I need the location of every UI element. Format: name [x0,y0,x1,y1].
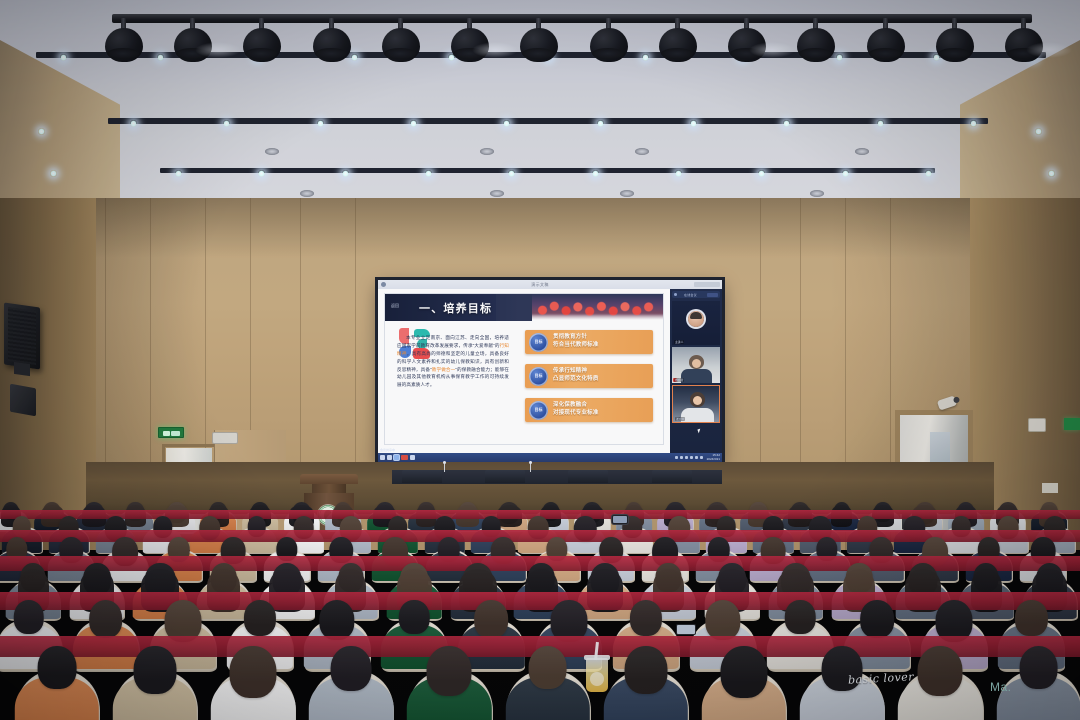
ceiling-light-icon [842,170,849,177]
lamp-reflection [472,42,518,58]
bubble-tea-cup [586,658,608,692]
stage-lamp-icon [935,18,975,62]
lecture-hall-scene: 演示文稿 一、培养目标 返回 本专业立足南京、面向江苏、走向全国，培养适应国家学… [0,0,1080,720]
objective-line-2: 符合当代教师标准 [553,342,599,350]
ceiling-light-icon [503,120,510,127]
audience-member [703,640,785,720]
audience-head [37,646,76,690]
participant-tile[interactable]: 主讲人 [672,301,720,345]
audience-head [860,600,894,638]
tray-shield-icon[interactable] [695,456,698,459]
recessed-downlight-icon [635,148,649,155]
stage-lamp-icon [658,18,698,62]
ceiling-light-icon [783,120,790,127]
audience-member [114,640,196,720]
exit-sign-icon [158,427,184,438]
ceiling-light-icon [175,170,182,177]
smartphone-icon [676,624,696,635]
ceiling-light-icon [597,120,604,127]
recessed-downlight-icon [810,190,824,197]
stage-chair [485,470,525,483]
slide-title: 一、培养目标 [419,300,492,316]
stage-lamp-icon [796,18,836,62]
audience-head [319,600,354,640]
ceiling-light-icon [130,120,137,127]
stage-lamp-icon [866,18,906,62]
taskbar-explorer-icon[interactable] [387,455,392,460]
tray-battery-icon[interactable] [685,456,688,459]
taskbar-pinned-apps[interactable] [380,455,415,460]
participant-face [693,396,702,405]
avatar [688,311,704,327]
audience-head [918,646,963,696]
participant-tile-active[interactable]: 发言中 [672,385,720,423]
tray-network-icon[interactable] [675,456,678,459]
wall-switch-plate [1042,483,1058,493]
audience-head [427,646,472,696]
taskbar-browser-icon[interactable] [394,455,399,460]
speaker-mount [14,362,30,376]
microphone-icon [444,463,445,472]
podium-top [300,474,358,484]
wall-wash-light-icon [1035,128,1042,135]
taskbar-start-icon[interactable] [380,455,385,460]
objective-line-2: 对接现代专业标准 [553,410,599,418]
objective-box: 目标深化保教融合对接现代专业标准 [525,398,653,422]
stage-chair [568,470,608,483]
participant-tile[interactable]: 参会者 [672,347,720,383]
participant-name: 发言中 [675,417,685,421]
meeting-sidebar-header[interactable]: 在线会议 [672,291,720,298]
tray-cloud-icon[interactable] [700,456,703,459]
audience-head [133,646,176,694]
windows-taskbar[interactable]: 会议共享中 15:42 2024/3/21 [378,453,722,462]
ceiling-light-icon [223,120,230,127]
stage-lamp-icon [381,18,421,62]
taskbar-app-title: 会议共享中 [380,448,395,452]
wall-wash-light-icon [1048,170,1055,177]
meeting-header-label: 在线会议 [684,293,697,297]
wall-wash-light-icon [50,170,57,177]
audience-member [212,640,294,720]
participant-body [681,408,714,423]
ceiling-light-icon [60,54,67,61]
wall-control-box [1028,418,1046,432]
stage-lamp-icon [519,18,559,62]
taskbar-clock[interactable]: 15:42 2024/3/21 [707,454,720,461]
audience-head [331,646,372,692]
participant-name: 参会者 [674,378,684,382]
recessed-downlight-icon [480,148,494,155]
objective-line-1: 贯彻教育方针 [553,334,599,342]
audience-head [399,600,430,634]
ceiling-light-icon [970,120,977,127]
taskbar-powerpoint-icon[interactable] [401,455,408,460]
lamp-reflection [1026,42,1072,58]
ceiling-light-icon [758,170,765,177]
ceiling-light-icon [410,120,417,127]
recessed-downlight-icon [490,190,504,197]
objective-badge-icon: 目标 [529,367,548,386]
ceiling-light-icon [425,170,432,177]
audience-head [13,600,44,634]
objective-line-2: 凸显师范文化特质 [553,376,599,384]
projection-screen[interactable]: 演示文稿 一、培养目标 返回 本专业立足南京、面向江苏、走向全国，培养适应国家学… [378,280,722,462]
participant-body [681,369,712,383]
objective-box: 目标贯彻教育方针符合当代教师标准 [525,330,653,354]
meeting-status-dot [674,293,677,296]
audience-member [506,640,588,720]
ceiling-light-icon [675,170,682,177]
ceiling-light-icon [592,170,599,177]
audience-head [705,600,740,640]
slide-back-label[interactable]: 返回 [391,303,399,309]
meeting-manage-button[interactable] [707,293,718,297]
audience-head [528,646,567,690]
audience-head [624,646,667,694]
slide-objective-boxes: 目标贯彻教育方针符合当代教师标准目标传承行知精神凸显师范文化特质目标深化保教融合… [525,330,653,432]
tray-ime-icon[interactable] [690,456,693,459]
audience-head [785,600,816,634]
ceiling-band-2 [108,118,988,124]
ceiling-light-icon [342,170,349,177]
ceiling-light-icon [877,120,884,127]
lamp-reflection [749,42,795,58]
lamp-reflection [195,42,241,58]
participant-name: 主讲人 [674,340,684,344]
taskbar-meeting-icon[interactable] [410,455,415,460]
window-titlebar[interactable]: 演示文稿 [378,280,722,289]
audience-head [721,646,768,699]
audience-head [230,646,277,699]
audience-head [475,600,509,638]
audience-head [244,600,276,636]
window-controls[interactable] [694,282,720,287]
objective-line-1: 传承行知精神 [553,368,599,376]
audience-area [0,498,1080,720]
ceiling-light-icon [258,170,265,177]
ceiling-light-icon [508,170,515,177]
mouse-cursor-icon [697,429,701,434]
wall-wash-light-icon [38,128,45,135]
slide-canvas[interactable]: 一、培养目标 返回 本专业立足南京、面向江苏、走向全国，培养适应国家学前教育改革… [378,289,670,453]
ceiling-light-icon [351,54,358,61]
slide-header: 一、培养目标 返回 [385,294,663,321]
objective-line-1: 深化保教融合 [553,402,599,410]
participant-face [692,359,701,368]
ceiling-band-3 [160,168,935,173]
meeting-sidebar[interactable]: 在线会议 主讲人 参会者 发言中 [670,289,722,453]
ceiling-left-soffit [0,40,120,210]
objective-badge-icon: 目标 [529,401,548,420]
ceiling-light-icon [317,120,324,127]
objective-badge-icon: 目标 [529,333,548,352]
stage-lamp-icon [104,18,144,62]
recessed-downlight-icon [300,190,314,197]
audience-head [1019,646,1058,690]
recessed-downlight-icon [620,190,634,197]
jacket-brand-text: Ma. [990,680,1012,694]
exit-sign-right-icon [1064,418,1080,430]
audience-member [16,640,98,720]
smartphone-recording-icon [612,515,628,524]
ceiling-light-icon [925,170,932,177]
taskbar-tray[interactable]: 15:42 2024/3/21 [675,454,720,461]
stage-lamp-icon [312,18,352,62]
podium-neck [312,484,346,493]
audience-member [605,640,687,720]
stage-chair [402,470,442,483]
audience-member [310,640,392,720]
slide-banner-photo [532,294,663,321]
slide: 一、培养目标 返回 本专业立足南京、面向江苏、走向全国，培养适应国家学前教育改革… [385,294,663,444]
wall-speaker-left-lower [10,384,36,417]
stage-lamp-icon [589,18,629,62]
ceiling-light-icon [836,54,843,61]
recessed-downlight-icon [855,148,869,155]
audience-head [1015,600,1047,636]
stage-chair [652,470,692,483]
ceiling-light-icon [690,120,697,127]
clock-date: 2024/3/21 [707,458,720,461]
ceiling-light-icon [642,54,649,61]
window-title: 演示文稿 [386,282,694,288]
slide-body-text: 本专业立足南京、面向江苏、走向全国，培养适应国家学前教育改革发展要求，传承“大爱… [397,334,509,389]
wall-speaker-left [4,302,40,369]
objective-box: 目标传承行知精神凸显师范文化特质 [525,364,653,388]
emergency-light-fixture [212,432,238,444]
tray-volume-icon[interactable] [680,456,683,459]
audience-member [408,640,490,720]
microphone-icon [530,463,531,472]
stage-lamp-icon [242,18,282,62]
recessed-downlight-icon [265,148,279,155]
audience-head [89,600,123,638]
ceiling-right-soffit [960,40,1080,210]
ceiling-light-icon [157,54,164,61]
audience-head [630,600,662,636]
